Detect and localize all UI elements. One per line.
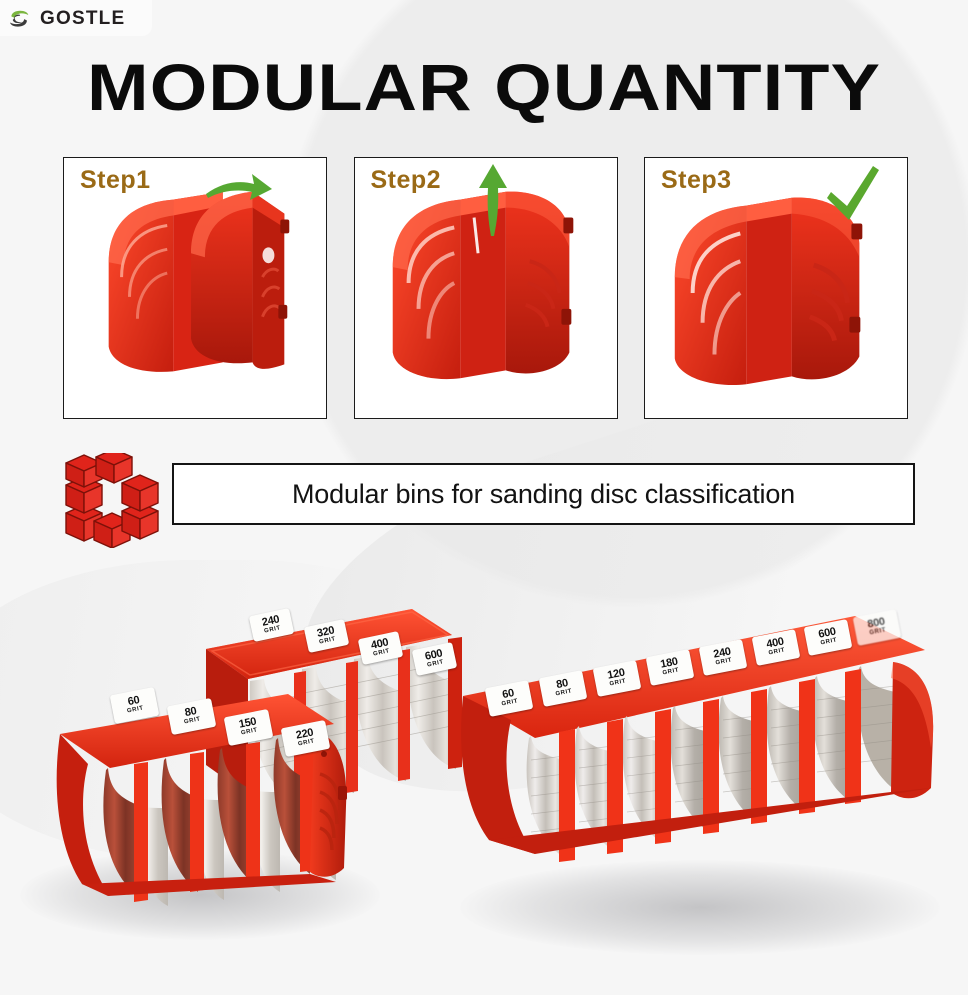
grit-unit: GRIT xyxy=(869,628,887,639)
caption-band: Modular bins for sanding disc classifica… xyxy=(60,447,915,547)
grit-unit: GRIT xyxy=(662,668,680,679)
grit-unit: GRIT xyxy=(501,699,519,710)
caption-box: Modular bins for sanding disc classifica… xyxy=(172,463,915,525)
green-check-icon xyxy=(821,164,885,226)
red-cube-stack-icon xyxy=(60,453,178,548)
grit-unit: GRIT xyxy=(241,728,259,739)
infographic-page: GOSTLE MODULAR QUANTITY xyxy=(0,0,968,995)
step-panel-2: Step2 xyxy=(354,157,618,419)
steps-row: Step1 xyxy=(63,157,908,419)
grit-unit: GRIT xyxy=(609,679,627,690)
green-right-arrow-icon xyxy=(202,170,274,210)
gostle-swoosh-icon xyxy=(6,5,33,32)
grit-unit: GRIT xyxy=(820,638,838,649)
grit-unit: GRIT xyxy=(768,648,786,659)
step-panel-3: Step3 xyxy=(644,157,908,419)
step-label: Step1 xyxy=(80,166,151,195)
step-label: Step2 xyxy=(371,166,442,195)
product-photo-area: 240 GRIT 320 GRIT 400 GRIT 600 GRIT xyxy=(0,560,968,995)
step-label: Step3 xyxy=(661,166,732,195)
grit-unit: GRIT xyxy=(555,689,573,700)
brand-logo: GOSTLE xyxy=(0,0,152,36)
grit-unit: GRIT xyxy=(715,658,733,669)
brand-name: GOSTLE xyxy=(40,9,125,28)
green-up-arrow-icon xyxy=(473,162,513,240)
grit-unit: GRIT xyxy=(184,717,202,728)
grit-unit: GRIT xyxy=(298,739,316,750)
step-panel-1: Step1 xyxy=(63,157,327,419)
grit-unit: GRIT xyxy=(127,706,145,717)
caption-text: Modular bins for sanding disc classifica… xyxy=(292,479,795,510)
red-modular-bin-open-icon xyxy=(64,158,326,418)
page-title: MODULAR QUANTITY xyxy=(0,52,968,122)
